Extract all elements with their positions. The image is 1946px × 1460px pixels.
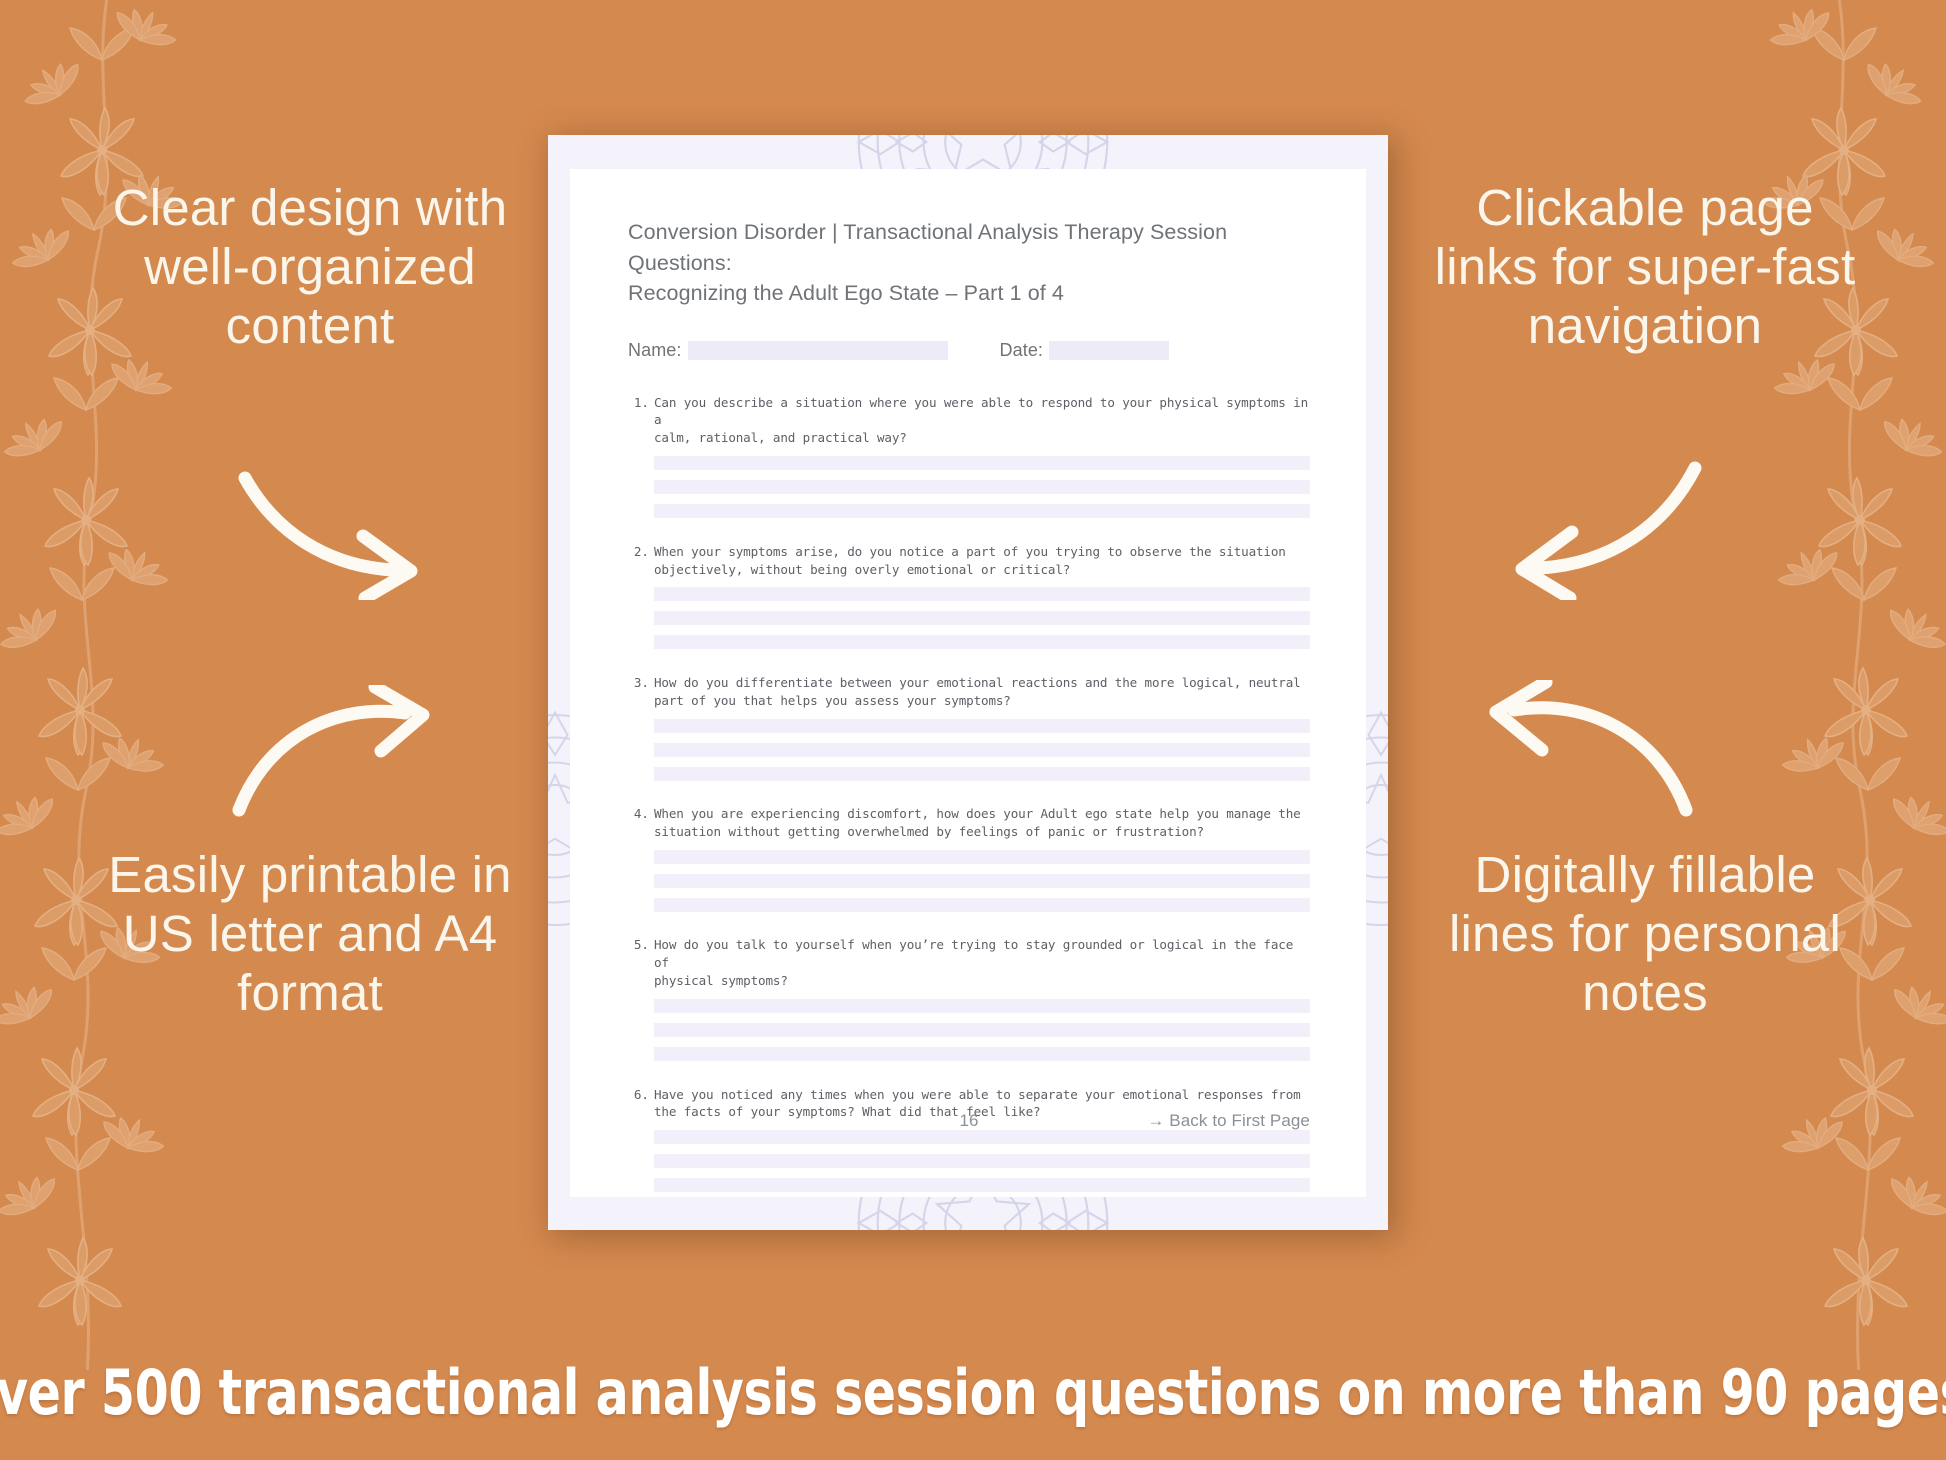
question-text: Can you describe a situation where you w… [654, 394, 1310, 448]
date-label: Date: [1000, 340, 1044, 361]
question-number: 3. [628, 674, 654, 781]
curved-arrow-up-right-icon [225, 685, 465, 820]
answer-line[interactable] [654, 1130, 1310, 1144]
answer-line[interactable] [654, 1047, 1310, 1061]
date-input[interactable] [1049, 341, 1169, 360]
curved-arrow-down-left-icon [1470, 460, 1705, 600]
curved-arrow-up-left-icon [1460, 680, 1700, 820]
answer-line[interactable] [654, 611, 1310, 625]
question-item: 6. Have you noticed any times when you w… [628, 1086, 1310, 1193]
question-number: 5. [628, 936, 654, 1061]
answer-line[interactable] [654, 456, 1310, 470]
answer-line[interactable] [654, 719, 1310, 733]
answer-lines [654, 850, 1310, 912]
answer-line[interactable] [654, 743, 1310, 757]
worksheet-page: Conversion Disorder | Transactional Anal… [548, 135, 1388, 1230]
banner-text: Over 500 transactional analysis session … [0, 1356, 1946, 1429]
question-text: How do you differentiate between your em… [654, 674, 1310, 710]
question-number: 1. [628, 394, 654, 519]
promo-fillable-lines: Digitally fillable lines for personal no… [1430, 845, 1860, 1022]
answer-lines [654, 587, 1310, 649]
question-item: 3. How do you differentiate between your… [628, 674, 1310, 781]
curved-arrow-down-right-icon [235, 470, 455, 600]
answer-line[interactable] [654, 767, 1310, 781]
answer-line[interactable] [654, 999, 1310, 1013]
answer-line[interactable] [654, 480, 1310, 494]
question-item: 4. When you are experiencing discomfort,… [628, 805, 1310, 912]
name-date-row: Name: Date: [628, 340, 1310, 361]
question-number: 2. [628, 543, 654, 650]
question-list: 1. Can you describe a situation where yo… [628, 394, 1310, 1193]
answer-line[interactable] [654, 1154, 1310, 1168]
bottom-banner: Over 500 transactional analysis session … [0, 1324, 1946, 1460]
worksheet-sheet: Conversion Disorder | Transactional Anal… [570, 169, 1366, 1197]
question-text: When your symptoms arise, do you notice … [654, 543, 1310, 579]
answer-line[interactable] [654, 898, 1310, 912]
answer-lines [654, 719, 1310, 781]
page-footer: 16 → Back to First Page [628, 1111, 1310, 1131]
answer-line[interactable] [654, 504, 1310, 518]
question-text: When you are experiencing discomfort, ho… [654, 805, 1310, 841]
answer-line[interactable] [654, 587, 1310, 601]
page-title: Conversion Disorder | Transactional Anal… [628, 217, 1310, 309]
answer-lines [654, 999, 1310, 1061]
promo-clear-design: Clear design with well-organized content [95, 178, 525, 355]
page-number: 16 [960, 1111, 979, 1131]
promo-clickable-links: Clickable page links for super-fast navi… [1430, 178, 1860, 355]
answer-line[interactable] [654, 874, 1310, 888]
question-item: 5. How do you talk to yourself when you’… [628, 936, 1310, 1061]
answer-line[interactable] [654, 1023, 1310, 1037]
question-number: 6. [628, 1086, 654, 1193]
question-text: How do you talk to yourself when you’re … [654, 936, 1310, 990]
promo-easily-printable: Easily printable in US letter and A4 for… [95, 845, 525, 1022]
name-label: Name: [628, 340, 682, 361]
back-to-first-page-link[interactable]: → Back to First Page [1147, 1111, 1310, 1131]
question-number: 4. [628, 805, 654, 912]
question-item: 1. Can you describe a situation where yo… [628, 394, 1310, 519]
answer-lines [654, 1130, 1310, 1192]
answer-line[interactable] [654, 635, 1310, 649]
name-input[interactable] [688, 341, 948, 360]
answer-line[interactable] [654, 1178, 1310, 1192]
question-item: 2. When your symptoms arise, do you noti… [628, 543, 1310, 650]
answer-lines [654, 456, 1310, 518]
answer-line[interactable] [654, 850, 1310, 864]
